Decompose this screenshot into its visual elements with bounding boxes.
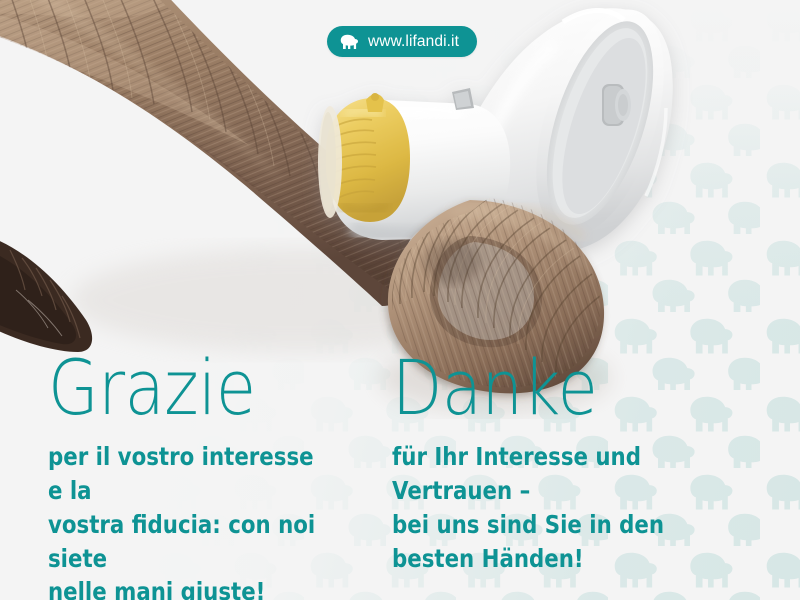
megaphone-bell-tab <box>602 84 631 126</box>
website-url-label: www.lifandi.it <box>368 34 459 50</box>
column-italian: Grazie per il vostro interesse e la vost… <box>48 352 378 600</box>
headline-italian: Grazie <box>48 352 332 424</box>
elephant-icon <box>340 34 359 49</box>
website-badge[interactable]: www.lifandi.it <box>327 26 477 57</box>
poster-canvas: www.lifandi.it Grazie per il vostro inte… <box>0 0 800 600</box>
megaphone-handle <box>404 226 472 303</box>
elephant-ear-tuft <box>0 236 92 352</box>
megaphone-top-fin <box>452 88 474 110</box>
headline-german: Danke <box>392 352 719 424</box>
column-german: Danke für Ihr Interesse und Vertrauen – … <box>392 352 772 575</box>
body-italian: per il vostro interesse e la vostra fidu… <box>48 440 335 600</box>
message-block: Grazie per il vostro interesse e la vost… <box>0 0 800 600</box>
body-german: für Ihr Interesse und Vertrauen – bei un… <box>392 440 723 575</box>
megaphone-yellow-ring <box>326 93 410 222</box>
